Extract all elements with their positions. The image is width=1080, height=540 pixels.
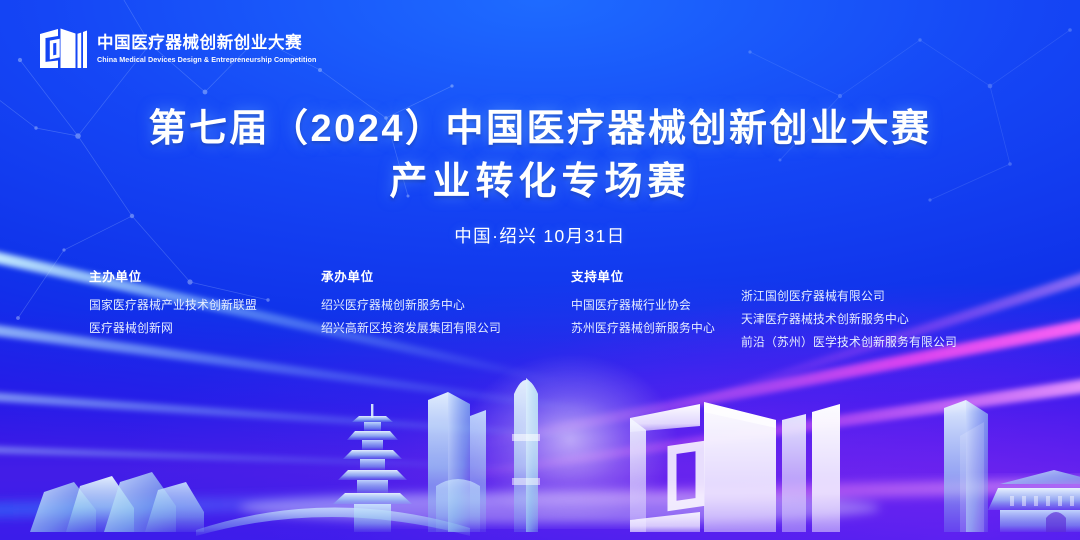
organizer-heading: 支持单位 <box>571 266 741 285</box>
event-banner: 中国医疗器械创新创业大赛 China Medical Devices Desig… <box>0 0 1080 540</box>
column-spacer <box>741 266 991 285</box>
organizer-column-coorganizer: 承办单位 绍兴医疗器械创新服务中心 绍兴高新区投资发展集团有限公司 <box>321 266 571 354</box>
organizer-entry: 天津医疗器械技术创新服务中心 <box>741 308 991 331</box>
organizer-entry: 苏州医疗器械创新服务中心 <box>571 317 741 340</box>
page-title-line1: 第七届（2024）中国医疗器械创新创业大赛 <box>0 104 1080 155</box>
organizer-entry: 中国医疗器械行业协会 <box>571 294 741 317</box>
organizer-column-host: 主办单位 国家医疗器械产业技术创新联盟 医疗器械创新网 <box>89 266 321 354</box>
organizer-entry: 医疗器械创新网 <box>89 317 321 340</box>
organizer-column-support-extra: 浙江国创医疗器械有限公司 天津医疗器械技术创新服务中心 前沿（苏州）医学技术创新… <box>741 266 991 354</box>
organizer-entry: 国家医疗器械产业技术创新联盟 <box>89 294 321 317</box>
organizer-entry: 浙江国创医疗器械有限公司 <box>741 285 991 308</box>
organizer-heading: 承办单位 <box>321 266 571 285</box>
city-gate-icon <box>988 470 1080 532</box>
skyscraper-icon <box>944 400 988 532</box>
brand-logo[interactable]: 中国医疗器械创新创业大赛 China Medical Devices Desig… <box>38 24 316 72</box>
location-date: 中国·绍兴 10月31日 <box>0 223 1080 248</box>
organizer-column-support: 支持单位 中国医疗器械行业协会 苏州医疗器械创新服务中心 <box>571 266 741 354</box>
page-title-line2: 产业转化专场赛 <box>0 157 1080 208</box>
organizer-entry: 绍兴高新区投资发展集团有限公司 <box>321 317 571 340</box>
organizer-heading: 主办单位 <box>89 266 321 285</box>
organizer-entry: 绍兴医疗器械创新服务中心 <box>321 294 571 317</box>
door-window-logo-icon <box>38 24 88 72</box>
organizer-entry: 前沿（苏州）医学技术创新服务有限公司 <box>741 331 991 354</box>
brand-text: 中国医疗器械创新创业大赛 China Medical Devices Desig… <box>97 32 316 65</box>
brand-name-en: China Medical Devices Design & Entrepren… <box>97 55 316 64</box>
organizers-section: 主办单位 国家医疗器械产业技术创新联盟 医疗器械创新网 承办单位 绍兴医疗器械创… <box>0 266 1080 354</box>
opera-house-icon <box>30 472 204 532</box>
hero-title-block: 第七届（2024）中国医疗器械创新创业大赛 产业转化专场赛 中国·绍兴 10月3… <box>0 104 1080 248</box>
brand-name-cn: 中国医疗器械创新创业大赛 <box>97 34 316 53</box>
